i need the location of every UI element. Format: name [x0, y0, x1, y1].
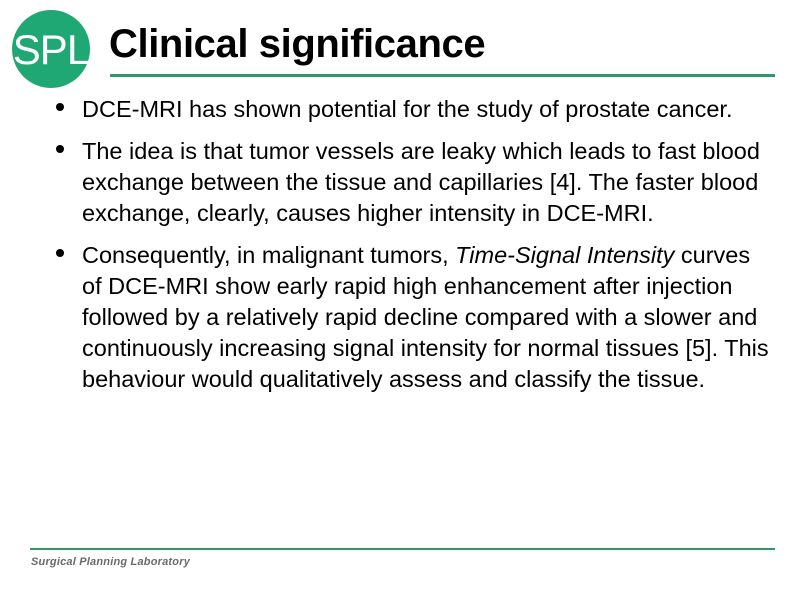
- bullet-segment: The idea is that tumor vessels are leaky…: [82, 138, 760, 226]
- title-underline-rule: [110, 74, 775, 77]
- bullet-segment: Consequently, in malignant tumors,: [82, 242, 455, 268]
- list-item: Consequently, in malignant tumors, Time-…: [0, 240, 800, 395]
- bullet-dot-icon: [56, 145, 64, 153]
- bullet-text: The idea is that tumor vessels are leaky…: [82, 136, 776, 229]
- footer-rule: [30, 548, 775, 550]
- slide-body: DCE-MRI has shown potential for the stud…: [0, 94, 800, 406]
- bullet-dot-icon: [56, 103, 64, 111]
- bullet-segment-emphasis: Time-Signal Intensity: [455, 242, 674, 268]
- footer-label: Surgical Planning Laboratory: [31, 556, 190, 568]
- spl-logo: SPL: [11, 9, 91, 89]
- bullet-text: DCE-MRI has shown potential for the stud…: [82, 94, 776, 125]
- bullet-text: Consequently, in malignant tumors, Time-…: [82, 240, 776, 395]
- bullet-segment: DCE-MRI has shown potential for the stud…: [82, 96, 732, 122]
- bullet-dot-icon: [56, 249, 64, 257]
- list-item: The idea is that tumor vessels are leaky…: [0, 136, 800, 229]
- list-item: DCE-MRI has shown potential for the stud…: [0, 94, 800, 125]
- slide: SPL Clinical significance DCE-MRI has sh…: [0, 0, 800, 600]
- svg-text:SPL: SPL: [13, 26, 89, 73]
- slide-header: SPL Clinical significance: [0, 0, 800, 92]
- page-title: Clinical significance: [109, 20, 485, 68]
